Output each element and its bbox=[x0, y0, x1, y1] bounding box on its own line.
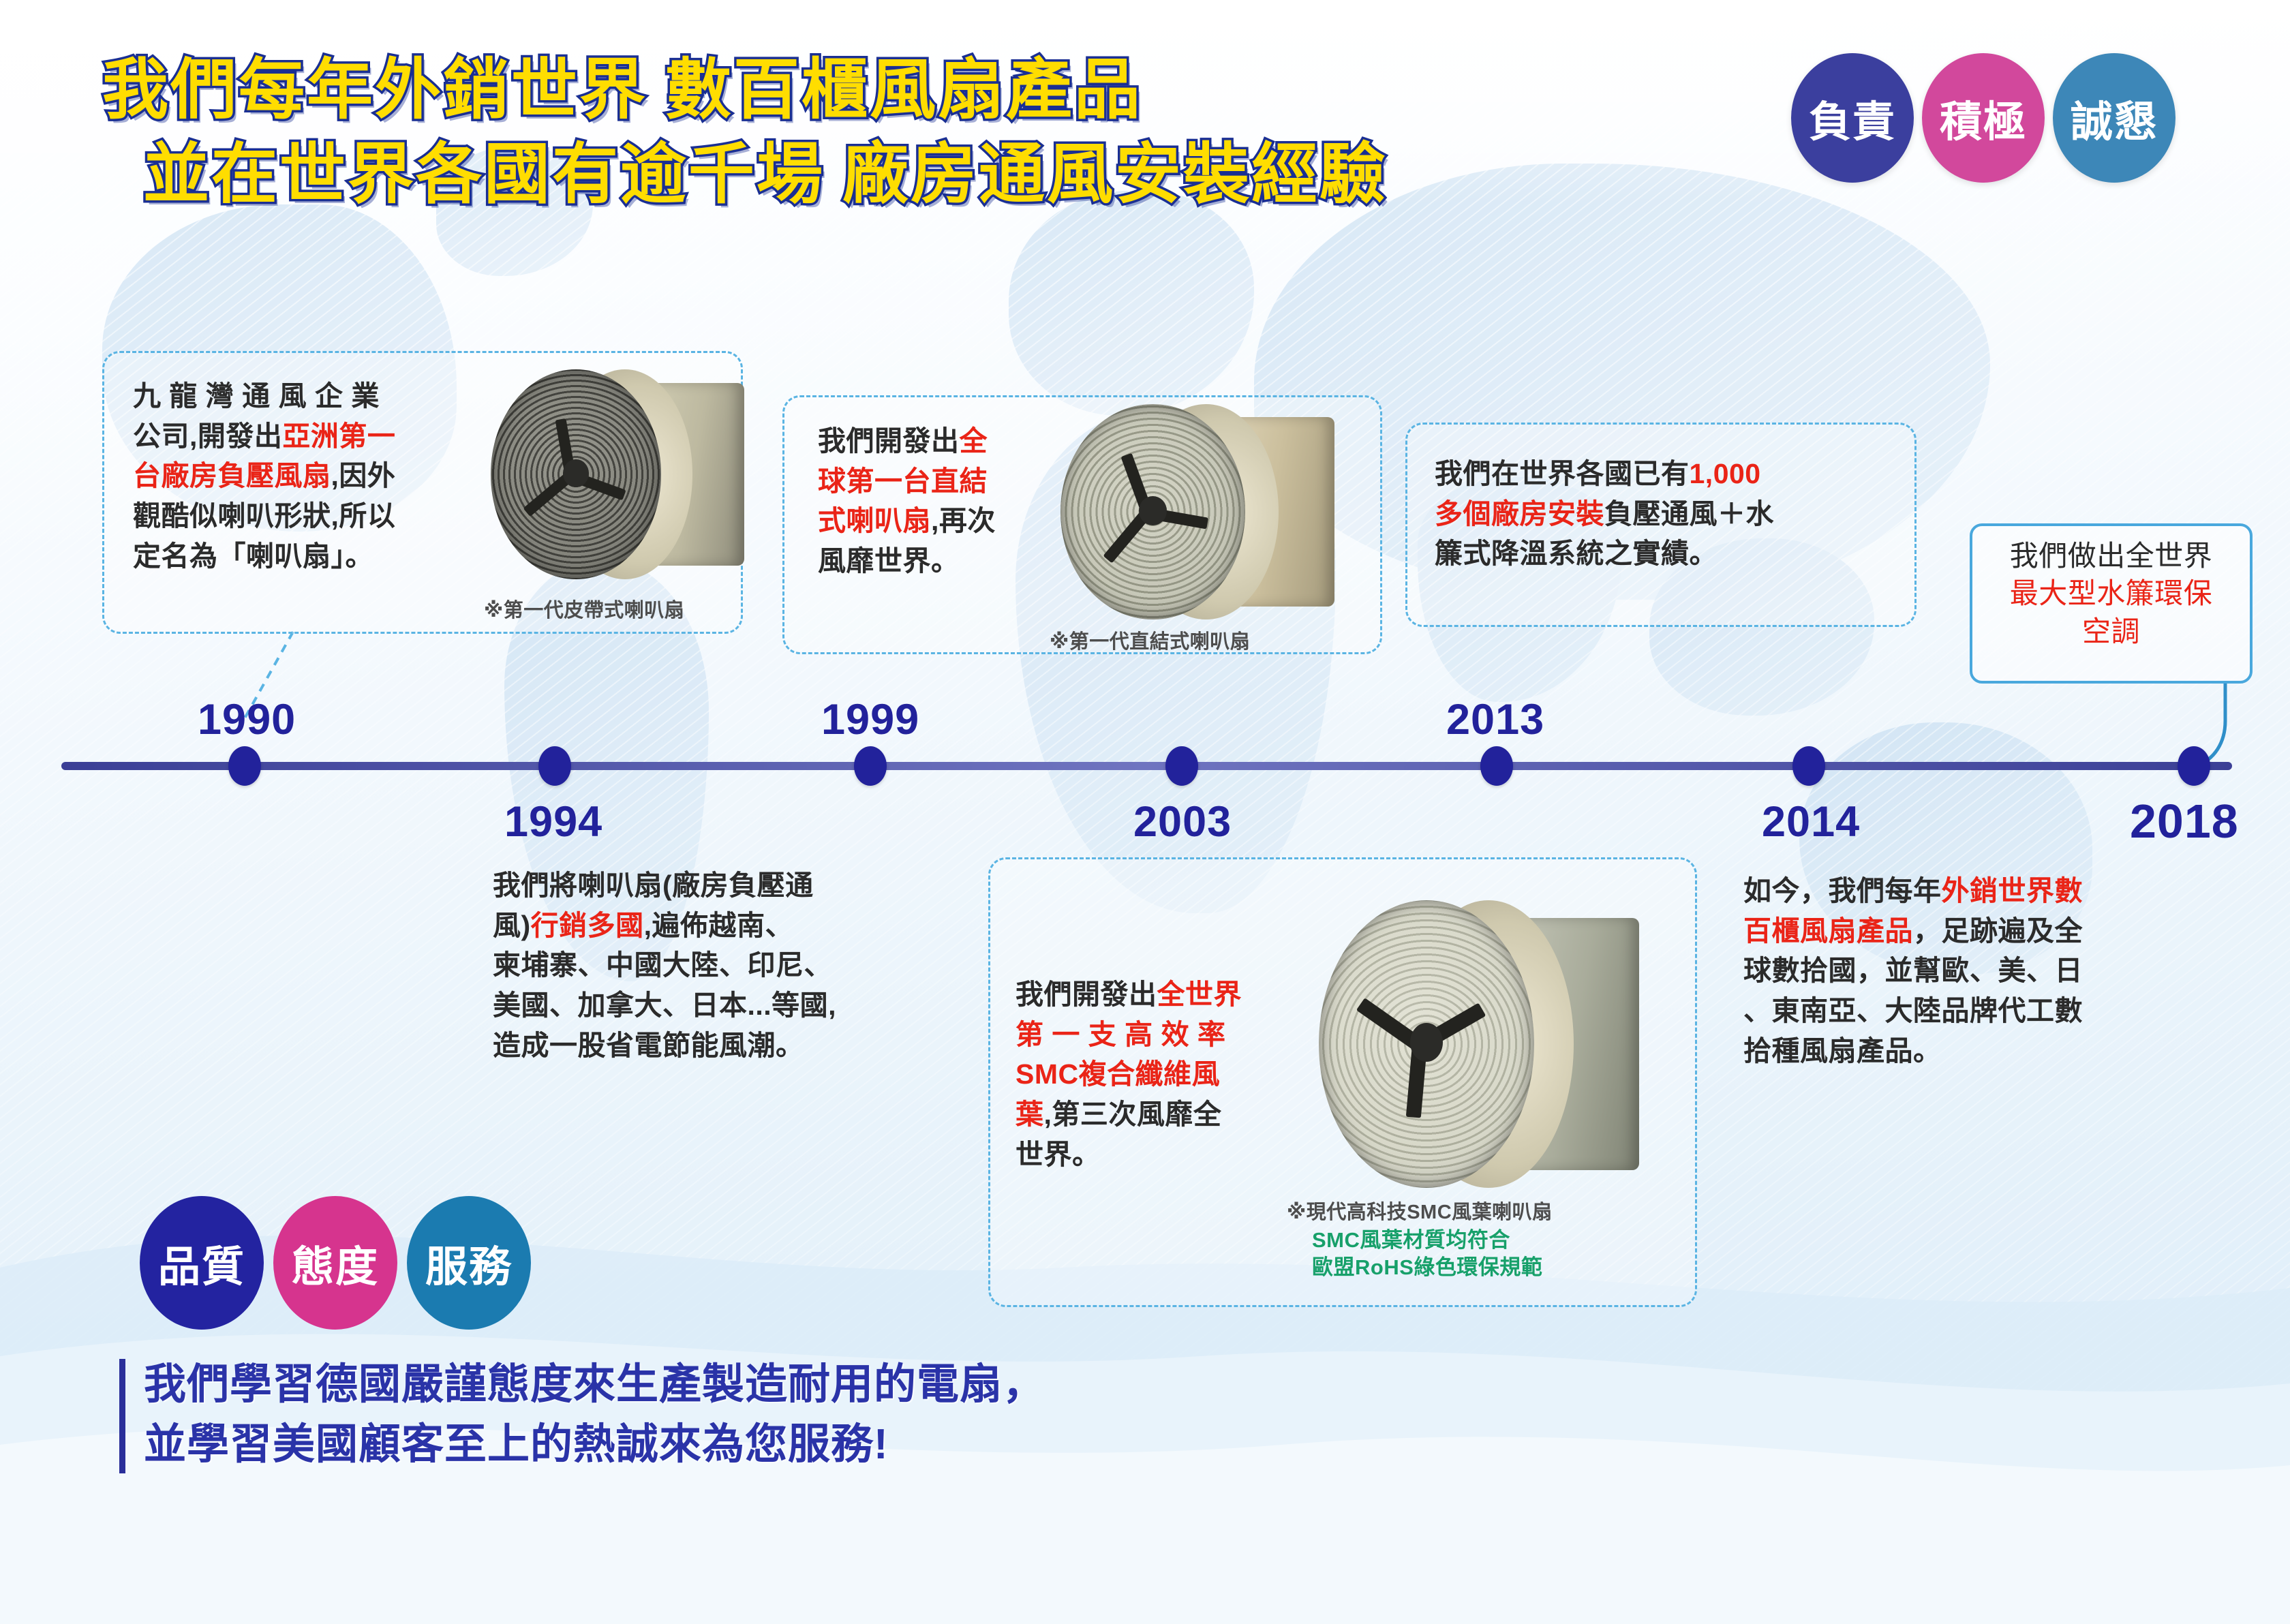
t: ，足跡遍及全 bbox=[1913, 915, 2083, 947]
milestone-2003-line-1: 我們開發出全世界 bbox=[1016, 975, 1309, 1015]
milestone-2003-line-3: SMC複合纖維風 bbox=[1016, 1054, 1309, 1094]
timeline-year-2018: 2018 bbox=[2130, 794, 2239, 848]
t-red: 葉 bbox=[1016, 1099, 1044, 1130]
landmass-europe bbox=[1009, 191, 1254, 416]
t-red: 台廠房負壓風扇 bbox=[133, 460, 331, 491]
fan-illustration bbox=[1055, 399, 1334, 624]
closing-statement: 我們學習德國嚴謹態度來生產製造耐用的電扇， 並學習美國顧客至上的熱誠來為您服務! bbox=[119, 1355, 1045, 1475]
milestone-2013-line-1: 我們在世界各國已有1,000 bbox=[1435, 454, 1905, 494]
milestone-1994-line-2: 風)行銷多國,遍佈越南、 bbox=[493, 906, 970, 946]
milestone-1990-line-5: 定名為「喇叭扇」。 bbox=[133, 536, 486, 577]
headline-line-2: 並在世界各國有逾千場廠房通風安裝經驗 bbox=[143, 132, 1388, 217]
fan-illustration bbox=[1312, 894, 1639, 1194]
t: 我們開發出 bbox=[1016, 979, 1157, 1010]
milestone-1999-line-2: 球第一台直結 bbox=[818, 461, 1070, 502]
fan-photo-smc bbox=[1312, 894, 1639, 1194]
milestone-1994-line-3: 柬埔寨、中國大陸、印尼、 bbox=[493, 945, 970, 985]
t: 負壓通風＋水 bbox=[1604, 498, 1774, 530]
milestone-1999-line-1: 我們開發出全 bbox=[818, 421, 1070, 461]
top-value-circles: 負責 積極 誠懇 bbox=[1791, 53, 2175, 183]
value-circle-label: 服務 bbox=[425, 1232, 513, 1293]
t: ,第三次風靡全 bbox=[1044, 1099, 1222, 1130]
smc-rohs-note: SMC風葉材質均符合 歐盟RoHS綠色環保規範 bbox=[1312, 1227, 1542, 1281]
milestone-2003-text: 我們開發出全世界 第 一 支 高 效 率 SMC複合纖維風 葉,第三次風靡全 世… bbox=[1016, 975, 1309, 1174]
milestone-2018-text: 我們做出全世界 最大型水簾環保 空調 bbox=[1970, 537, 2253, 650]
value-circle-responsible: 負責 bbox=[1791, 53, 1914, 183]
t: 我們開發出 bbox=[818, 425, 960, 457]
timeline-year-1994: 1994 bbox=[504, 797, 602, 846]
fan-hub bbox=[1139, 496, 1167, 525]
headline-line-1b: 數百櫃風扇產品 bbox=[665, 52, 1142, 127]
milestone-2018-line-3: 空調 bbox=[1970, 613, 2253, 650]
headline-line-1a: 我們每年外銷世界 bbox=[102, 52, 647, 127]
milestone-2014-line-3: 球數拾國，並幫歐、美、日 bbox=[1743, 951, 2234, 991]
fan-illustration bbox=[485, 365, 744, 583]
bottom-value-circles: 品質 態度 服務 bbox=[140, 1196, 531, 1330]
timeline-dot-2003[interactable] bbox=[1165, 746, 1198, 786]
closing-line-2: 並學習美國顧客至上的熱誠來為您服務! bbox=[144, 1415, 1045, 1475]
value-circle-label: 積極 bbox=[1940, 87, 2027, 149]
milestone-2003-line-4: 葉,第三次風靡全 bbox=[1016, 1094, 1309, 1135]
milestone-1994-line-5: 造成一股省電節能風潮。 bbox=[493, 1026, 970, 1066]
milestone-2014-line-2: 百櫃風扇產品，足跡遍及全 bbox=[1743, 911, 2234, 951]
timeline-dot-1990[interactable] bbox=[228, 746, 261, 786]
timeline-axis bbox=[61, 762, 2232, 770]
milestone-2014-line-5: 拾種風扇產品。 bbox=[1743, 1031, 2234, 1071]
fan-hub bbox=[1410, 1023, 1443, 1062]
milestone-1990-line-3: 台廠房負壓風扇,因外 bbox=[133, 456, 486, 496]
timeline-dot-1999[interactable] bbox=[854, 746, 887, 786]
timeline-dot-2013[interactable] bbox=[1480, 746, 1513, 786]
t: ,再次 bbox=[931, 505, 996, 536]
smc-rohs-note-line-2: 歐盟RoHS綠色環保規範 bbox=[1312, 1254, 1542, 1281]
milestone-2013-text: 我們在世界各國已有1,000 多個廠房安裝負壓通風＋水 簾式降溫系統之實績。 bbox=[1435, 454, 1905, 574]
milestone-1994-line-4: 美國、加拿大、日本...等國, bbox=[493, 985, 970, 1026]
fan-caption-2003: ※現代高科技SMC風葉喇叭扇 bbox=[1287, 1196, 1553, 1225]
milestone-1999-text: 我們開發出全 球第一台直結 式喇叭扇,再次 風靡世界。 bbox=[818, 421, 1070, 581]
closing-line-1: 我們學習德國嚴謹態度來生產製造耐用的電扇， bbox=[144, 1355, 1045, 1415]
page-title: 我們每年外銷世界數百櫃風扇產品 並在世界各國有逾千場廠房通風安裝經驗 bbox=[102, 48, 1388, 217]
milestone-2003-line-2: 第 一 支 高 效 率 bbox=[1016, 1015, 1309, 1055]
timeline-dot-2018[interactable] bbox=[2178, 746, 2210, 786]
value-circle-attitude: 態度 bbox=[273, 1196, 397, 1330]
milestone-1999-line-3: 式喇叭扇,再次 bbox=[818, 501, 1070, 541]
t: 公司,開發出 bbox=[133, 420, 282, 452]
fan-caption-1990: ※第一代皮帶式喇叭扇 bbox=[484, 594, 684, 623]
milestone-1999-line-4: 風靡世界。 bbox=[818, 541, 1070, 581]
milestone-2014-text: 如今，我們每年外銷世界數 百櫃風扇產品，足跡遍及全 球數拾國，並幫歐、美、日 、… bbox=[1743, 871, 2234, 1071]
fan-photo-belt-driven bbox=[485, 365, 744, 583]
t-red: 1,000 bbox=[1690, 458, 1761, 489]
t-red: 全 bbox=[960, 425, 988, 457]
t: 如今，我們每年 bbox=[1743, 875, 1942, 906]
milestone-1990-line-2: 公司,開發出亞洲第一 bbox=[133, 416, 486, 457]
value-circle-label: 負責 bbox=[1809, 87, 1896, 149]
t-red: 行銷多國 bbox=[531, 910, 644, 941]
headline-line-2a: 並在世界各國有逾千場 bbox=[143, 137, 825, 211]
value-circle-service: 服務 bbox=[407, 1196, 531, 1330]
t: 風) bbox=[493, 910, 531, 941]
infographic-canvas: 我們每年外銷世界數百櫃風扇產品 並在世界各國有逾千場廠房通風安裝經驗 負責 積極… bbox=[0, 0, 2290, 1624]
t-red: 式喇叭扇 bbox=[818, 505, 931, 536]
t-red: 亞洲第一 bbox=[282, 420, 395, 452]
timeline-year-2003: 2003 bbox=[1133, 797, 1232, 846]
t-red: 外銷世界數 bbox=[1942, 875, 2083, 906]
value-circle-label: 態度 bbox=[292, 1232, 379, 1293]
timeline-year-2013: 2013 bbox=[1446, 695, 1544, 744]
timeline-year-2014: 2014 bbox=[1762, 797, 1860, 846]
milestone-1990-line-1: 九 龍 灣 通 風 企 業 bbox=[133, 376, 486, 416]
t-red: 多個廠房安裝 bbox=[1435, 498, 1604, 530]
value-circle-proactive: 積極 bbox=[1922, 53, 2045, 183]
timeline-year-1999: 1999 bbox=[821, 695, 919, 744]
milestone-2013-line-2: 多個廠房安裝負壓通風＋水 bbox=[1435, 494, 1905, 534]
timeline-dot-1994[interactable] bbox=[538, 746, 571, 786]
milestone-1990-text: 九 龍 灣 通 風 企 業 公司,開發出亞洲第一 台廠房負壓風扇,因外 觀酷似喇… bbox=[104, 353, 486, 576]
value-circle-label: 誠懇 bbox=[2071, 87, 2158, 149]
milestone-2014-line-1: 如今，我們每年外銷世界數 bbox=[1743, 871, 2234, 911]
milestone-1994-line-1: 我們將喇叭扇(廠房負壓通 bbox=[493, 865, 970, 906]
milestone-2018-line-1: 我們做出全世界 bbox=[1970, 537, 2253, 574]
fan-photo-direct-drive bbox=[1055, 399, 1334, 624]
headline-line-1: 我們每年外銷世界數百櫃風扇產品 bbox=[102, 48, 1388, 132]
value-circle-sincere: 誠懇 bbox=[2053, 53, 2175, 183]
fan-caption-1999: ※第一代直結式喇叭扇 bbox=[1050, 626, 1250, 654]
fan-hub bbox=[563, 459, 589, 488]
t: 我們在世界各國已有 bbox=[1435, 458, 1690, 489]
milestone-2003-line-5: 世界。 bbox=[1016, 1135, 1309, 1175]
smc-rohs-note-line-1: SMC風葉材質均符合 bbox=[1312, 1227, 1542, 1254]
milestone-2013-line-3: 簾式降溫系統之實績。 bbox=[1435, 534, 1905, 574]
milestone-1990-line-4: 觀酷似喇叭形狀,所以 bbox=[133, 496, 486, 536]
timeline-year-1990: 1990 bbox=[198, 695, 296, 744]
milestone-2018-line-2: 最大型水簾環保 bbox=[1970, 574, 2253, 612]
t-red: 百櫃風扇產品 bbox=[1743, 915, 1913, 947]
value-circle-quality: 品質 bbox=[140, 1196, 264, 1330]
headline-line-2b: 廠房通風安裝經驗 bbox=[842, 137, 1388, 211]
t: ,因外 bbox=[331, 460, 396, 491]
t: ,遍佈越南、 bbox=[644, 910, 793, 941]
value-circle-label: 品質 bbox=[158, 1232, 245, 1293]
t-red: 全世界 bbox=[1157, 979, 1242, 1010]
timeline-dot-2014[interactable] bbox=[1792, 746, 1825, 786]
milestone-1994-text: 我們將喇叭扇(廠房負壓通 風)行銷多國,遍佈越南、 柬埔寨、中國大陸、印尼、 美… bbox=[493, 865, 970, 1065]
milestone-2014-line-4: 、東南亞、大陸品牌代工數 bbox=[1743, 991, 2234, 1031]
